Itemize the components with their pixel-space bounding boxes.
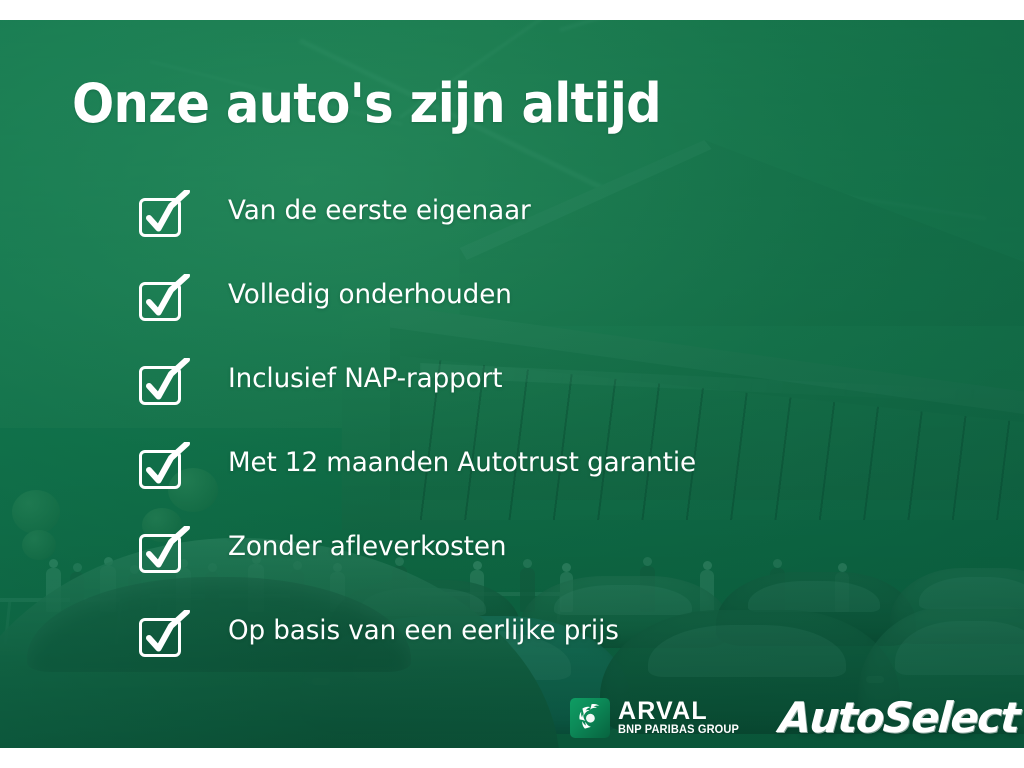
list-item: Inclusief NAP-rapport <box>138 340 958 424</box>
promo-banner: Onze auto's zijn altijd Van de eerste ei… <box>0 0 1024 768</box>
list-item: Van de eerste eigenaar <box>138 172 958 256</box>
list-item-label: Zonder afleverkosten <box>228 533 506 560</box>
list-item: Met 12 maanden Autotrust garantie <box>138 424 958 508</box>
bnp-paribas-stars-icon <box>570 698 610 738</box>
arval-tagline: BNP PARIBAS GROUP <box>618 723 739 737</box>
list-item: Op basis van een eerlijke prijs <box>138 592 958 676</box>
checkbox-checked-icon <box>138 190 190 240</box>
benefits-list: Van de eerste eigenaar Volledig onderhou… <box>138 172 958 676</box>
checkbox-checked-icon <box>138 274 190 324</box>
arval-name: ARVAL <box>618 699 744 723</box>
checkbox-checked-icon <box>138 610 190 660</box>
list-item-label: Volledig onderhouden <box>228 281 512 308</box>
logo-row: ARVAL BNP PARIBAS GROUP AutoSelect <box>570 688 1010 748</box>
list-item-label: Op basis van een eerlijke prijs <box>228 617 619 644</box>
banner-stage: Onze auto's zijn altijd Van de eerste ei… <box>0 20 1024 748</box>
page-margin-top <box>0 0 1024 20</box>
list-item-label: Inclusief NAP-rapport <box>228 365 502 392</box>
autoselect-logo: AutoSelect <box>778 697 1020 739</box>
checkbox-checked-icon <box>138 442 190 492</box>
list-item-label: Met 12 maanden Autotrust garantie <box>228 449 696 476</box>
checkbox-checked-icon <box>138 358 190 408</box>
arval-wordmark: ARVAL BNP PARIBAS GROUP <box>618 699 744 737</box>
page-title: Onze auto's zijn altijd <box>72 76 661 133</box>
list-item-label: Van de eerste eigenaar <box>228 197 531 224</box>
page-margin-bottom <box>0 748 1024 768</box>
banner-content: Onze auto's zijn altijd Van de eerste ei… <box>0 20 1024 748</box>
arval-logo: ARVAL BNP PARIBAS GROUP <box>570 696 744 740</box>
checkbox-checked-icon <box>138 526 190 576</box>
list-item: Volledig onderhouden <box>138 256 958 340</box>
list-item: Zonder afleverkosten <box>138 508 958 592</box>
